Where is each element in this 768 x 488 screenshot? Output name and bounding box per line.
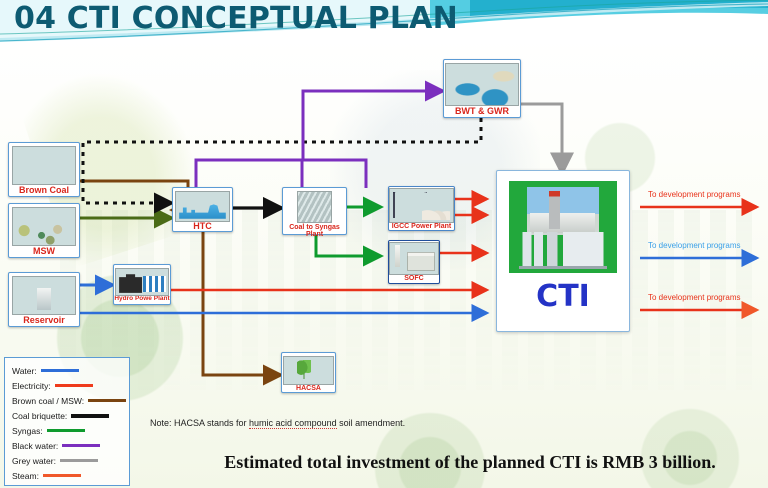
output-label-1: To development programs bbox=[648, 190, 741, 199]
node-htc[interactable]: HTC bbox=[172, 187, 233, 232]
node-msw[interactable]: MSW bbox=[8, 203, 80, 258]
node-igcc-power-plant[interactable]: IGCC Power Plant bbox=[388, 186, 455, 231]
water-treatment-photo bbox=[445, 63, 519, 106]
legend-item-black-water: Black water: bbox=[12, 438, 123, 453]
legend-label-steam: Steam: bbox=[12, 471, 39, 481]
node-bwt-gwr-label: BWT & GWR bbox=[444, 107, 520, 116]
cti-green-panel bbox=[509, 181, 617, 273]
node-msw-label: MSW bbox=[9, 247, 79, 256]
legend-swatch-brown-coal-msw bbox=[88, 399, 126, 402]
igcc-powerplant-photo bbox=[389, 188, 454, 223]
legend-label-syngas: Syngas: bbox=[12, 426, 43, 436]
node-reservoir-label: Reservoir bbox=[9, 316, 79, 325]
node-hacsa[interactable]: HACSA bbox=[281, 352, 336, 393]
node-brown-coal[interactable]: Brown Coal bbox=[8, 142, 80, 197]
reservoir-dam-photo bbox=[12, 276, 76, 315]
legend-label-grey-water: Grey water: bbox=[12, 456, 56, 466]
legend-swatch-steam bbox=[43, 474, 81, 477]
cti-industrial-photo bbox=[527, 187, 599, 235]
footnote-underlined: humic acid compound bbox=[249, 418, 337, 429]
hydro-plant-photo bbox=[115, 268, 169, 296]
legend-swatch-syngas bbox=[47, 429, 85, 432]
slide-header: 04 CTI CONCEPTUAL PLAN bbox=[0, 0, 768, 42]
node-hydro-power-plant[interactable]: Hydro Powe Plant bbox=[113, 264, 171, 305]
node-igcc-label: IGCC Power Plant bbox=[389, 223, 454, 230]
node-bwt-gwr[interactable]: BWT & GWR bbox=[443, 59, 521, 118]
legend-swatch-grey-water bbox=[60, 459, 98, 462]
node-htc-label: HTC bbox=[173, 222, 232, 231]
legend-label-coal-briquette: Coal briquette: bbox=[12, 411, 67, 421]
node-cti[interactable]: CTI bbox=[496, 170, 630, 332]
sofc-plant-photo bbox=[389, 242, 439, 275]
legend-item-brown-coal-msw: Brown coal / MSW: bbox=[12, 393, 123, 408]
output-label-2: To development programs bbox=[648, 241, 741, 250]
legend-label-water: Water: bbox=[12, 366, 37, 376]
node-syngas-label: Coal to Syngas Plant bbox=[283, 224, 346, 239]
legend-label-black-water: Black water: bbox=[12, 441, 58, 451]
legend-label-electricity: Electricity: bbox=[12, 381, 51, 391]
syngas-plant-photo bbox=[297, 191, 332, 223]
node-coal-to-syngas-plant[interactable]: Coal to Syngas Plant bbox=[282, 187, 347, 235]
htc-plant-chart bbox=[175, 191, 230, 222]
footnote-suffix: soil amendment. bbox=[337, 418, 406, 428]
legend-panel: Water: Electricity: Brown coal / MSW: Co… bbox=[4, 357, 130, 486]
seedling-soil-photo bbox=[283, 356, 334, 385]
slide-canvas: 04 CTI CONCEPTUAL PLAN bbox=[0, 0, 768, 488]
footnote: Note: HACSA stands for humic acid compou… bbox=[150, 418, 405, 428]
legend-item-grey-water: Grey water: bbox=[12, 453, 123, 468]
investment-statement: Estimated total investment of the planne… bbox=[170, 452, 768, 473]
legend-item-electricity: Electricity: bbox=[12, 378, 123, 393]
brown-coal-photo bbox=[12, 146, 76, 185]
node-reservoir[interactable]: Reservoir bbox=[8, 272, 80, 327]
legend-swatch-water bbox=[41, 369, 79, 372]
legend-swatch-black-water bbox=[62, 444, 100, 447]
legend-item-coal-briquette: Coal briquette: bbox=[12, 408, 123, 423]
node-sofc[interactable]: SOFC bbox=[388, 240, 440, 284]
legend-swatch-coal-briquette bbox=[71, 414, 109, 418]
footnote-prefix: Note: HACSA stands for bbox=[150, 418, 249, 428]
node-brown-coal-label: Brown Coal bbox=[9, 186, 79, 195]
legend-item-syngas: Syngas: bbox=[12, 423, 123, 438]
cti-tanks-photo bbox=[519, 232, 607, 269]
msw-landfill-photo bbox=[12, 207, 76, 246]
node-hacsa-label: HACSA bbox=[282, 385, 335, 392]
legend-swatch-electricity bbox=[55, 384, 93, 387]
legend-item-water: Water: bbox=[12, 363, 123, 378]
node-hydro-label: Hydro Powe Plant bbox=[114, 296, 170, 303]
node-sofc-label: SOFC bbox=[389, 275, 439, 282]
output-label-3: To development programs bbox=[648, 293, 741, 302]
legend-label-brown-coal-msw: Brown coal / MSW: bbox=[12, 396, 84, 406]
node-cti-label: CTI bbox=[497, 279, 629, 314]
legend-item-steam: Steam: bbox=[12, 468, 123, 483]
page-title: 04 CTI CONCEPTUAL PLAN bbox=[14, 1, 458, 36]
